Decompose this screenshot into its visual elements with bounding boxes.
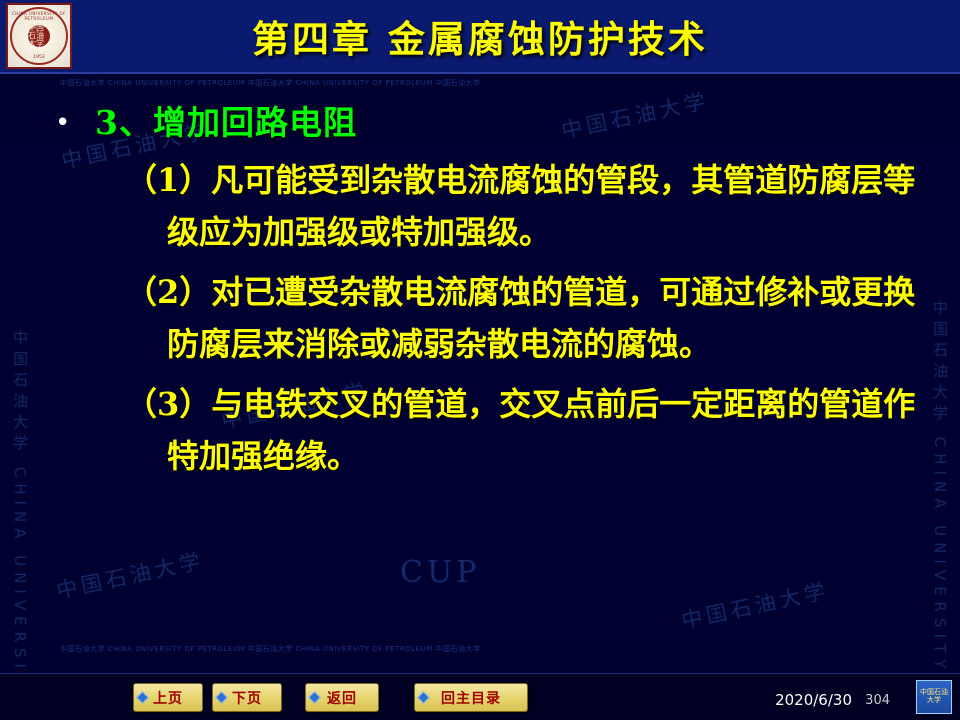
university-logo-year: 1953 [12,55,66,60]
watermark-cup-logo: CUP [400,555,480,590]
footer-date: 2020/6/30 [775,691,852,709]
university-logo-inner: CHINA UNIVERSITY OF PETROLEUM 中国石油大学 195… [10,7,68,65]
bullet-dot-icon: • [55,100,95,146]
heading-row: • 3、增加回路电阻 [55,100,935,146]
watermark-tiny-top: 中国石油大学 CHINA UNIVERSITY OF PETROLEUM 中国石… [60,78,480,88]
slide-canvas: 中国石油大学 CHINA UNIVERSITY OF PETROLEUM 中国石… [0,0,960,720]
prev-page-button[interactable]: 上页 [133,683,203,712]
back-button[interactable]: 返回 [305,683,379,712]
footer-page-number: 304 [865,693,890,708]
section-heading: 3、增加回路电阻 [95,100,357,146]
body-paragraph-3: （3）与电铁交叉的管道，交叉点前后一定距离的管道作特加强绝缘。 [125,378,935,482]
page-title: 第四章 金属腐蚀防护技术 [0,0,960,72]
university-logo: CHINA UNIVERSITY OF PETROLEUM 中国石油大学 195… [6,3,72,69]
slide-content: • 3、增加回路电阻 （1）凡可能受到杂散电流腐蚀的管段，其管道防腐层等级应为加… [55,100,935,482]
next-page-button[interactable]: 下页 [212,683,282,712]
watermark-vertical-left: 中国石油大学 CHINA UNIVERSITY OF PETROLEUM [10,330,31,720]
body-paragraph-1: （1）凡可能受到杂散电流腐蚀的管段，其管道防腐层等级应为加强级或特加强级。 [125,154,935,258]
corner-badge-label: 中国石油大学 [917,689,951,704]
university-logo-core-text: 中国石油大学 [28,24,50,48]
watermark-brand-3: 中国石油大学 [54,545,207,606]
corner-badge-icon: 中国石油大学 [916,680,952,714]
watermark-tiny-bottom: 中国石油大学 CHINA UNIVERSITY OF PETROLEUM 中国石… [60,644,480,654]
main-menu-button[interactable]: 回主目录 [414,683,528,712]
university-logo-core: 中国石油大学 [28,25,50,47]
university-logo-ring-text: CHINA UNIVERSITY OF PETROLEUM [12,11,66,21]
body-paragraph-2: （2）对已遭受杂散电流腐蚀的管道，可通过修补或更换防腐层来消除或减弱杂散电流的腐… [125,266,935,370]
watermark-brand-4: 中国石油大学 [679,575,832,636]
